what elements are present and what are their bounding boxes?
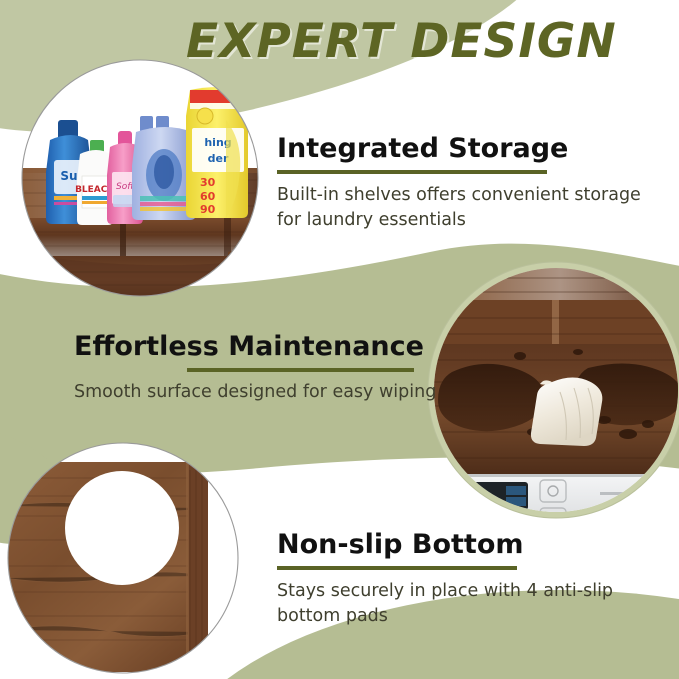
feature-heading: Integrated Storage xyxy=(277,133,657,164)
page-title: EXPERT DESIGN xyxy=(186,14,676,69)
heading-rule xyxy=(277,566,517,570)
heading-rule xyxy=(187,368,414,372)
feature-body: Smooth surface designed for easy wiping xyxy=(74,380,474,405)
heading-rule xyxy=(277,170,547,174)
infographic-page: Su BLEACH Soft xyxy=(0,0,679,679)
feature-block-integrated-storage: Integrated Storage Built-in shelves offe… xyxy=(277,133,657,233)
feature-block-non-slip-bottom: Non-slip Bottom Stays securely in place … xyxy=(277,529,657,629)
feature-block-effortless-maintenance: Effortless Maintenance Smooth surface de… xyxy=(74,331,474,405)
feature-heading: Effortless Maintenance xyxy=(74,331,474,362)
feature-heading: Non-slip Bottom xyxy=(277,529,657,560)
feature-body: Stays securely in place with 4 anti-slip… xyxy=(277,579,657,629)
feature-body: Built-in shelves offers convenient stora… xyxy=(277,183,657,233)
